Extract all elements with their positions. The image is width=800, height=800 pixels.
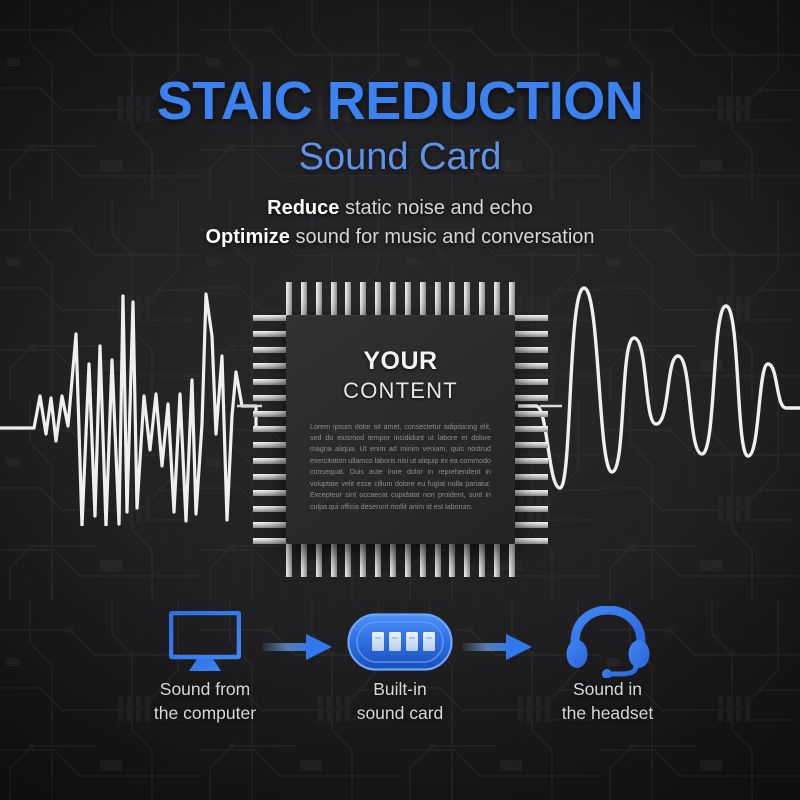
flow-step-sound-card[interactable]: Built-in sound card [330, 606, 470, 725]
chip-body-text: Lorem ipsum dolor sit amet, consectetur … [308, 422, 493, 514]
chip-pin [331, 542, 337, 577]
chip-pin [253, 363, 288, 369]
arrow-computer-to-card-icon [262, 634, 332, 660]
chip-pin [405, 542, 411, 577]
chip-pin [513, 490, 548, 496]
chip-pin [253, 490, 288, 496]
chip-pin [375, 542, 381, 577]
chip-pin [253, 426, 288, 432]
chip-pin [513, 522, 548, 528]
chip-pin [513, 506, 548, 512]
chip-body: YOUR CONTENT Lorem ipsum dolor sit amet,… [286, 315, 515, 544]
chip-pins-right [513, 315, 548, 544]
chip-pin [420, 542, 426, 577]
infographic-canvas: STAIC REDUCTION Sound Card Reduce static… [0, 0, 800, 800]
chip-pin [375, 282, 381, 317]
chip-pin [345, 542, 351, 577]
tagline-1-emphasis: Reduce [267, 197, 339, 219]
chip-pin [316, 542, 322, 577]
chip-pin [253, 379, 288, 385]
chip-pin [420, 282, 426, 317]
tagline-group: Reduce static noise and echo Optimize so… [0, 194, 800, 252]
chip-pin [435, 542, 441, 577]
chip-pin [331, 282, 337, 317]
chip-pin [513, 442, 548, 448]
chip-pin [449, 282, 455, 317]
headset-icon-slot [520, 606, 695, 678]
chip-pins-left [253, 315, 288, 544]
chip-pin [253, 506, 288, 512]
chip-pin [390, 282, 396, 317]
flow-step-headset-label: Sound in the headset [520, 678, 695, 725]
chip-pin [253, 411, 288, 417]
chip-pin [286, 282, 292, 317]
chip-pin [513, 347, 548, 353]
chip-pin [316, 282, 322, 317]
page-title: STAIC REDUCTION [0, 74, 800, 128]
flow-step-computer-label: Sound from the computer [125, 678, 285, 725]
flow-step-headset[interactable]: Sound in the headset [520, 606, 695, 725]
microchip-graphic: YOUR CONTENT Lorem ipsum dolor sit amet,… [253, 282, 548, 577]
chip-pin [253, 331, 288, 337]
sound-card-icon [347, 613, 453, 671]
chip-pin [345, 282, 351, 317]
chip-pin [513, 363, 548, 369]
chip-pin [301, 282, 307, 317]
tagline-2-emphasis: Optimize [205, 226, 289, 248]
flow-step-computer[interactable]: Sound from the computer [125, 606, 285, 725]
chip-pin [253, 538, 288, 544]
page-subtitle: Sound Card [0, 138, 800, 178]
chip-pin [253, 474, 288, 480]
chip-pin [253, 458, 288, 464]
header-block: STAIC REDUCTION Sound Card Reduce static… [0, 74, 800, 252]
headset-icon [566, 606, 650, 678]
chip-pin [509, 282, 515, 317]
chip-pin [464, 542, 470, 577]
chip-pin [253, 347, 288, 353]
arrow-card-to-headset-icon [462, 634, 532, 660]
chip-pin [513, 315, 548, 321]
monitor-icon-slot [125, 606, 285, 678]
chip-content-area: YOUR CONTENT Lorem ipsum dolor sit amet,… [286, 315, 515, 544]
chip-pin [479, 282, 485, 317]
flow-step-sound-card-label: Built-in sound card [330, 678, 470, 725]
chip-pin [253, 442, 288, 448]
chip-pin [405, 282, 411, 317]
chip-pin [360, 542, 366, 577]
chip-pin [464, 282, 470, 317]
chip-pin [513, 426, 548, 432]
tagline-1-text: static noise and echo [339, 197, 532, 219]
chip-pin [435, 282, 441, 317]
signal-flow-row: Sound from the computer [0, 606, 800, 766]
chip-pin [513, 538, 548, 544]
chip-pin [253, 395, 288, 401]
chip-pin [513, 474, 548, 480]
chip-heading-light: CONTENT [308, 377, 493, 405]
chip-pin [301, 542, 307, 577]
chip-pin [253, 522, 288, 528]
chip-pins-bottom [286, 542, 515, 577]
chip-pin [494, 282, 500, 317]
chip-pin [449, 542, 455, 577]
chip-pin [513, 458, 548, 464]
chip-pins-top [286, 282, 515, 317]
chip-pin [253, 315, 288, 321]
chip-pin [360, 282, 366, 317]
chip-pin [513, 395, 548, 401]
tagline-2-text: sound for music and conversation [290, 226, 595, 248]
chip-pin [513, 331, 548, 337]
sound-card-icon-slot [330, 606, 470, 678]
chip-pin [513, 379, 548, 385]
chip-pin [479, 542, 485, 577]
chip-pin [513, 411, 548, 417]
chip-pin [509, 542, 515, 577]
chip-pin [494, 542, 500, 577]
tagline-line-2: Optimize sound for music and conversatio… [0, 223, 800, 252]
monitor-icon [169, 611, 241, 673]
chip-pin [390, 542, 396, 577]
tagline-line-1: Reduce static noise and echo [0, 194, 800, 223]
chip-pin [286, 542, 292, 577]
chip-heading-bold: YOUR [308, 349, 493, 374]
